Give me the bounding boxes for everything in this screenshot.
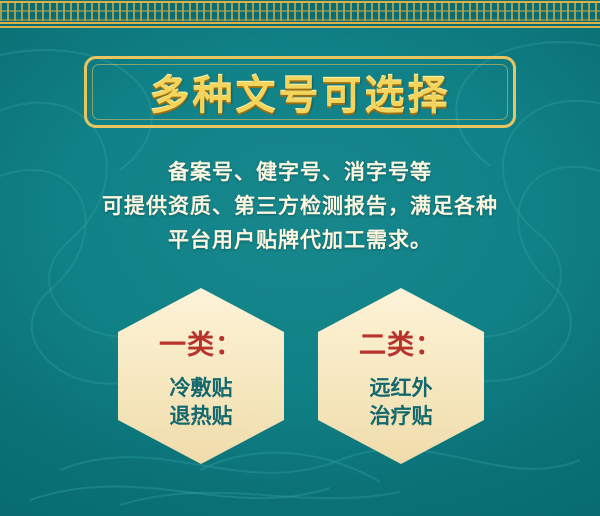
category-2-title: 二类： [359, 323, 443, 362]
category-hex-1: 一类： 冷敷贴 退热贴 [118, 288, 284, 464]
description-line-3: 平台用户贴牌代加工需求。 [0, 223, 600, 257]
category-hex-2: 二类： 远红外 治疗贴 [318, 288, 484, 464]
description-line-2: 可提供资质、第三方检测报告，满足各种 [0, 189, 600, 223]
ornamental-top-border [0, 0, 600, 28]
category-2-items: 远红外 治疗贴 [370, 374, 433, 430]
category-1-item-2: 退热贴 [170, 402, 233, 430]
category-1-item-1: 冷敷贴 [170, 374, 233, 402]
poster-canvas: 多种文号可选择 备案号、健字号、消字号等 可提供资质、第三方检测报告，满足各种 … [0, 0, 600, 516]
border-pattern-band [0, 3, 600, 21]
description-block: 备案号、健字号、消字号等 可提供资质、第三方检测报告，满足各种 平台用户贴牌代加… [0, 155, 600, 257]
border-line-bottom [0, 22, 600, 24]
category-2-item-1: 远红外 [370, 374, 433, 402]
page-title: 多种文号可选择 [150, 63, 451, 121]
description-line-1: 备案号、健字号、消字号等 [0, 155, 600, 189]
category-1-title: 一类： [159, 323, 243, 362]
category-1-items: 冷敷贴 退热贴 [170, 374, 233, 430]
title-plaque: 多种文号可选择 [84, 56, 516, 128]
category-2-item-2: 治疗贴 [370, 402, 433, 430]
category-hexagons: 一类： 冷敷贴 退热贴 二类： 远红外 治疗贴 [0, 288, 600, 468]
